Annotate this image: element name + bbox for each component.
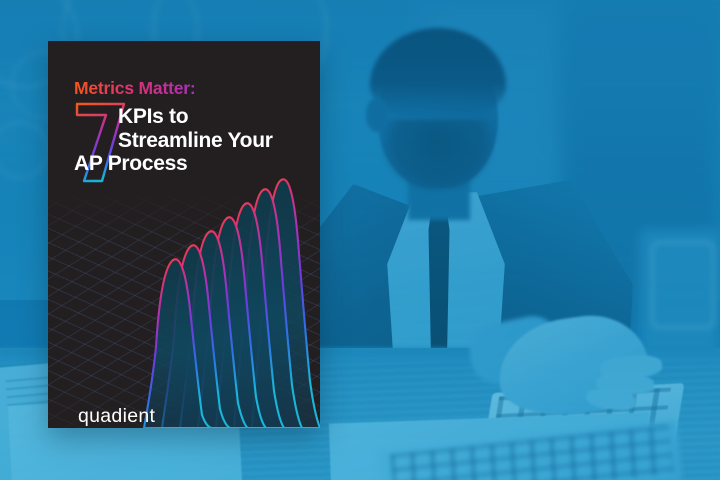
cover-headline-line-1: KPIs to (118, 105, 304, 129)
cover-kicker: Metrics Matter: (74, 78, 304, 99)
quadient-logo: quadient accounts payable by Beanworks (78, 407, 198, 428)
logo-wordmark: quadient (78, 407, 198, 427)
cover-headline-line-2: Streamline Your (118, 129, 304, 153)
cover-headline-row: KPIs to Streamline Your AP Process (74, 105, 304, 176)
cover-headline-line-3: AP Process (74, 152, 304, 176)
cover-headline: KPIs to Streamline Your AP Process (118, 105, 304, 176)
ebook-cover[interactable]: Metrics Matter: KPIs to Streamline Your (48, 41, 320, 428)
cover-text-block: Metrics Matter: KPIs to Streamline Your (74, 78, 304, 176)
